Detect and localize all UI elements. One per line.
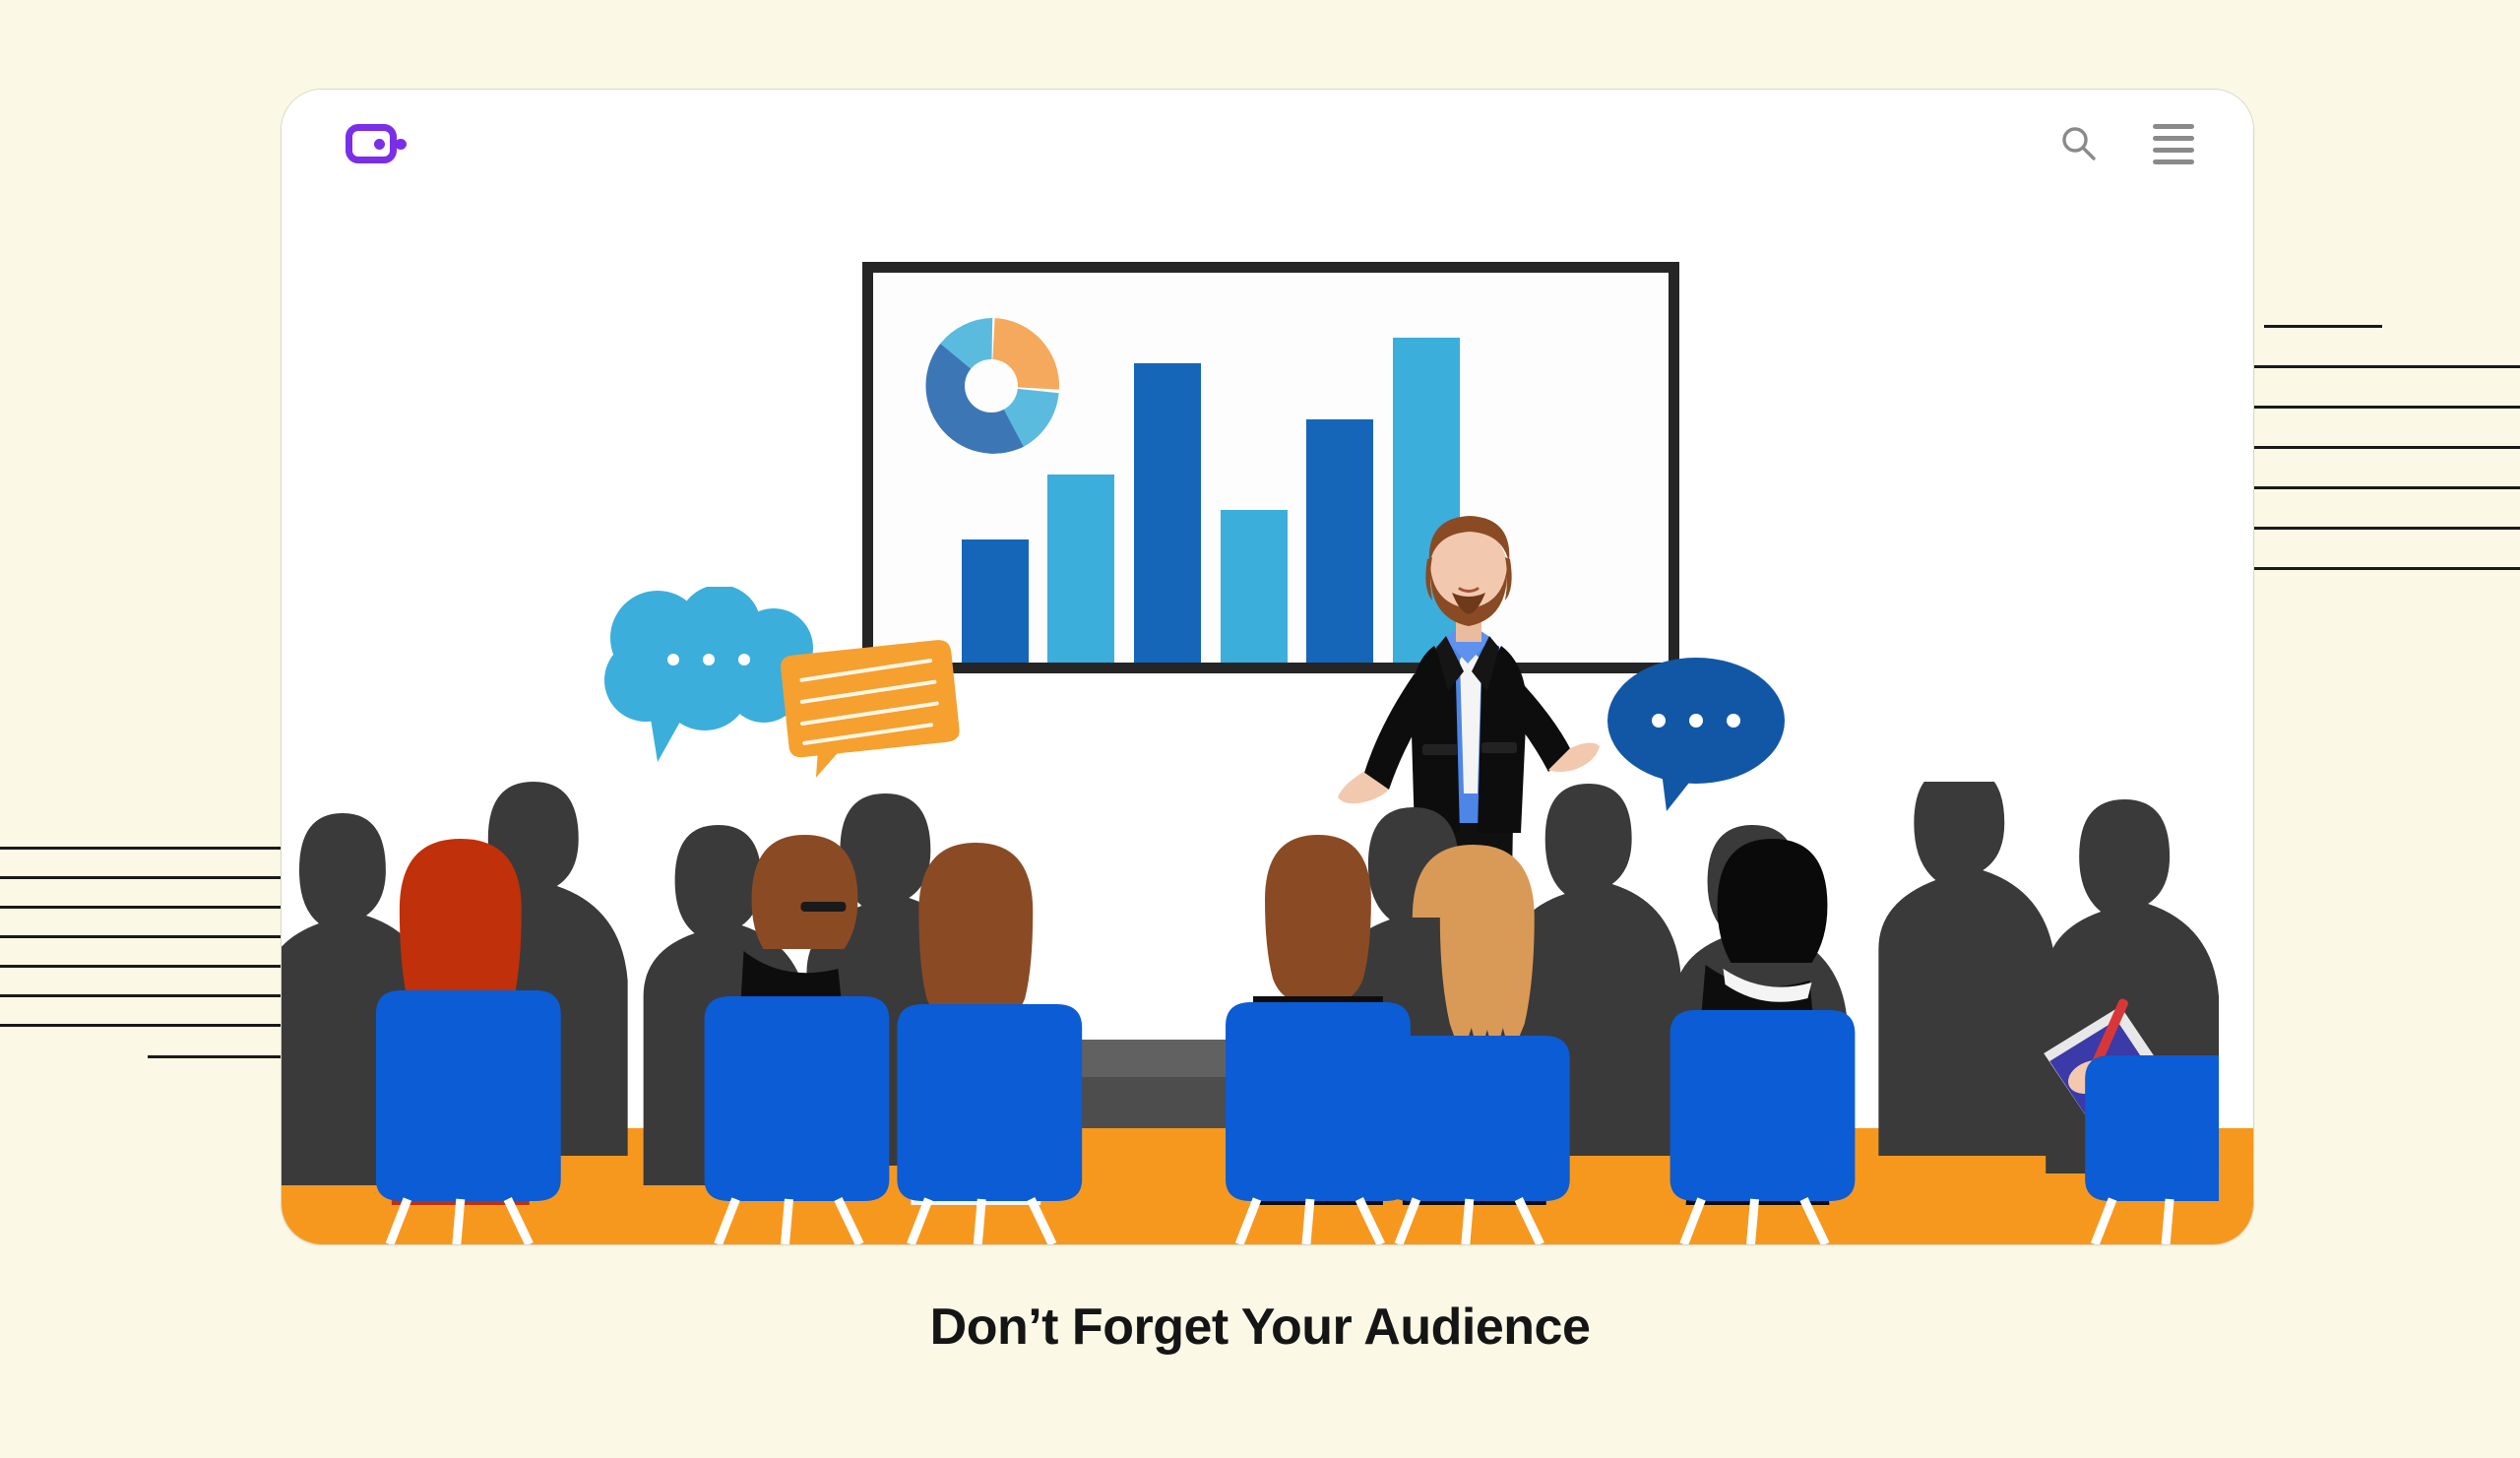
content-card [281,89,2254,1245]
orange-text-bubble [768,636,968,783]
brand-logo-icon[interactable] [346,124,407,163]
bar-1 [962,539,1029,663]
search-icon[interactable] [2059,124,2099,163]
chair-legs [390,1199,2170,1244]
bar-3 [1134,363,1201,663]
audience-rows [282,782,2253,1244]
card-header [282,90,2253,198]
header-actions [2059,124,2194,164]
bar-4 [1221,510,1288,663]
hamburger-menu-icon[interactable] [2153,124,2194,164]
page-title: Don’t Forget Your Audience [0,1298,2520,1357]
business-presentation-illustration [282,90,2253,1244]
bar-2 [1047,475,1114,663]
